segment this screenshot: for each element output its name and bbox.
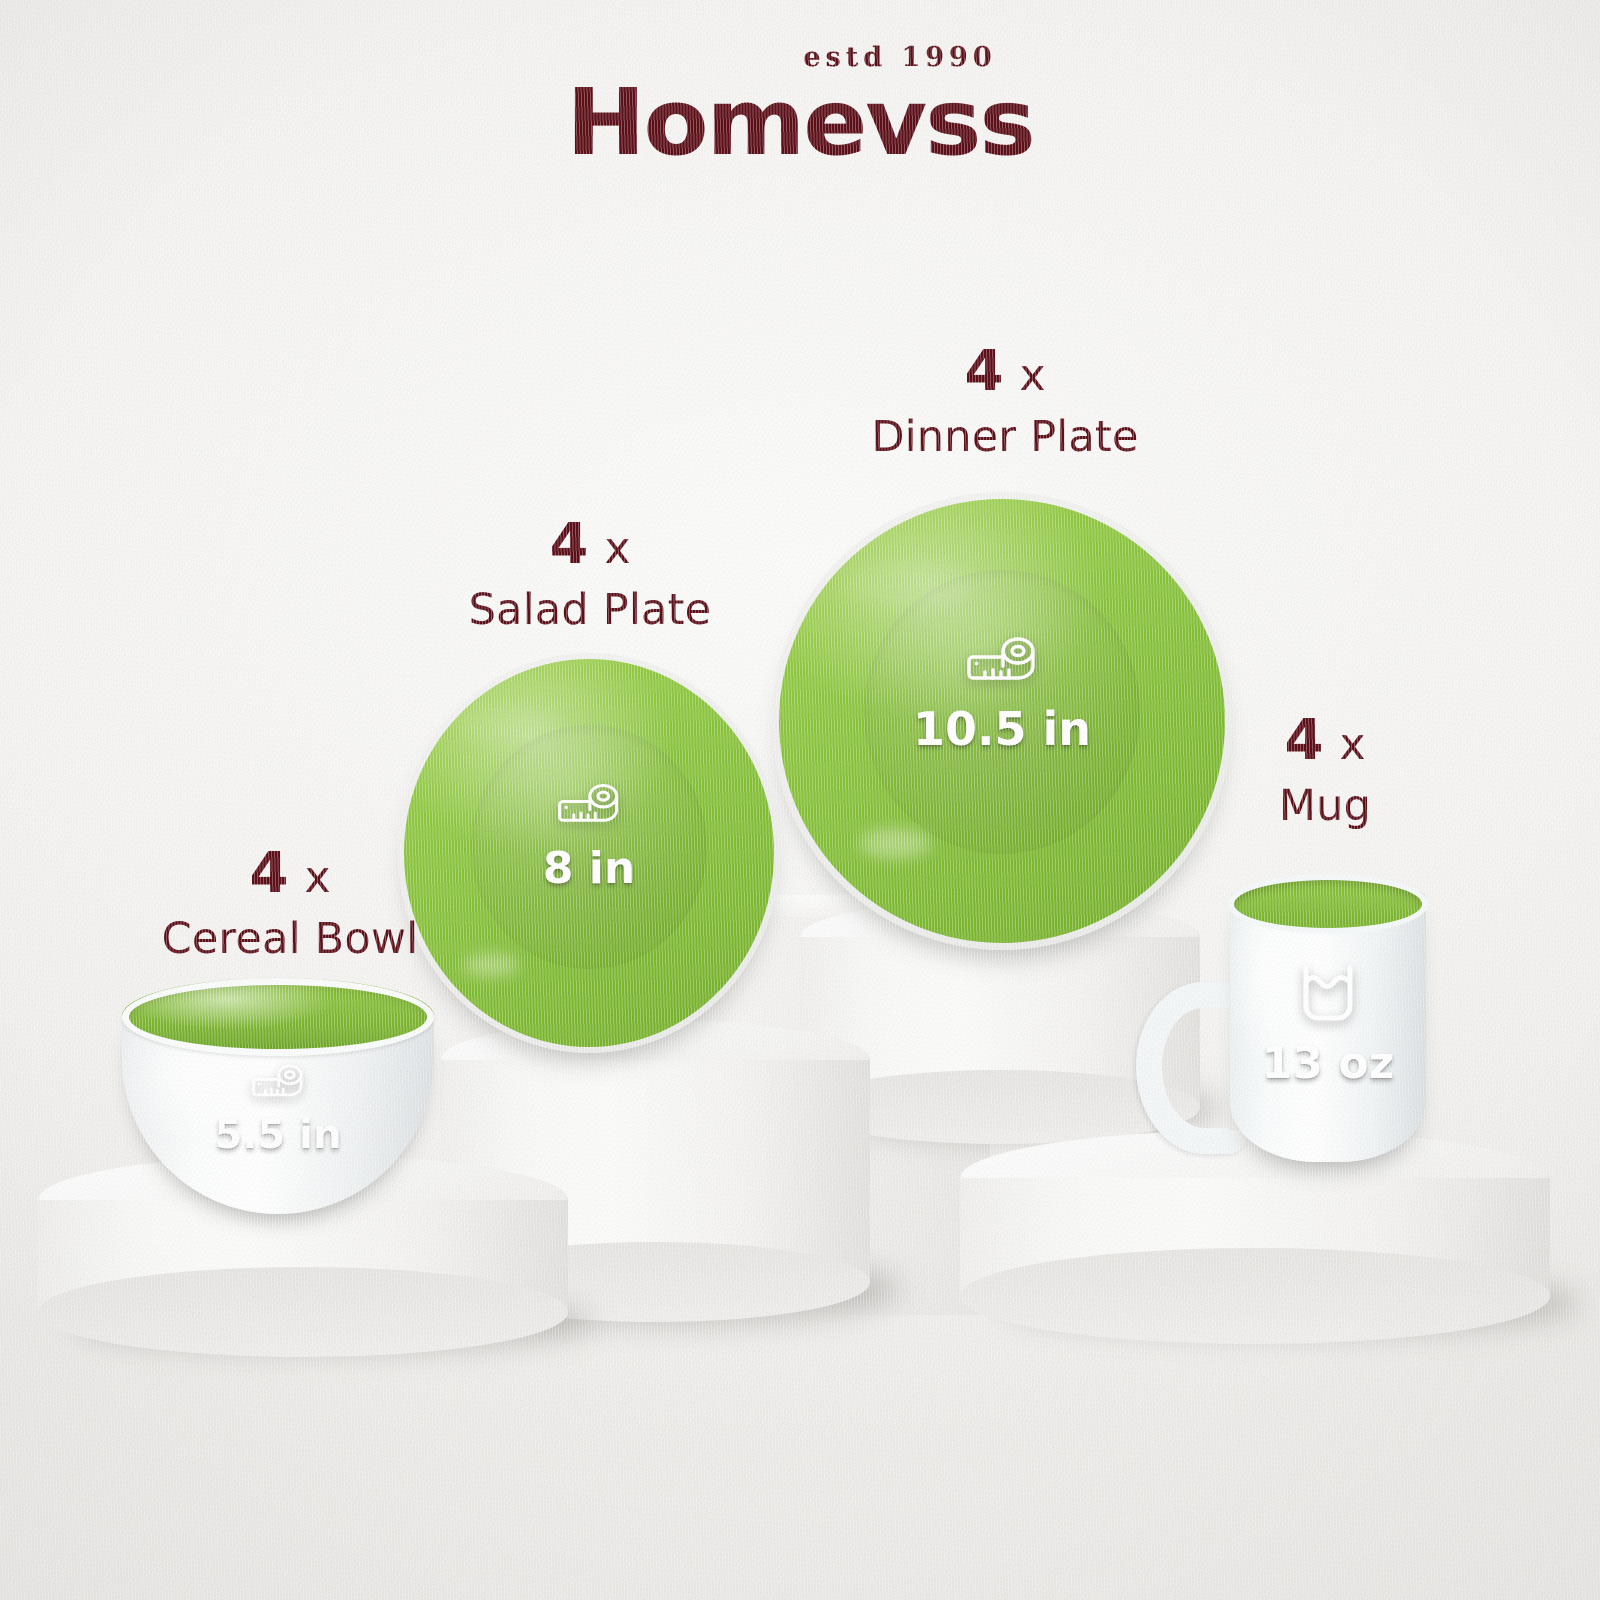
mug-qty: 4 bbox=[1284, 708, 1323, 773]
dinner-plate-qty-line: 4x bbox=[790, 343, 1220, 402]
salad-plate-label: Salad Plate bbox=[395, 585, 785, 637]
annotation-cereal-bowl: 4x Cereal Bowl bbox=[95, 845, 485, 965]
mug-rim bbox=[1228, 874, 1428, 934]
salad-plate-qty-line: 4x bbox=[395, 516, 785, 575]
brand-name: Homevss bbox=[0, 75, 1600, 172]
cereal-bowl-label: Cereal Bowl bbox=[95, 914, 485, 966]
pedestal-base bbox=[38, 1267, 568, 1357]
dinner-plate-well bbox=[864, 570, 1141, 854]
pedestal-base bbox=[960, 1248, 1550, 1344]
cereal-bowl-multiplier: x bbox=[304, 852, 330, 903]
product-infographic: 10.5 in 4x Dinner Plate bbox=[0, 0, 1600, 1600]
dinner-plate-qty: 4 bbox=[964, 339, 1003, 404]
salad-plate-highlight-2 bbox=[456, 706, 560, 745]
dinner-plate-label: Dinner Plate bbox=[790, 412, 1220, 464]
dinner-plate-highlight bbox=[859, 828, 930, 859]
cereal-bowl-qty-line: 4x bbox=[95, 845, 485, 904]
annotation-salad-plate: 4x Salad Plate bbox=[395, 516, 785, 636]
annotation-dinner-plate: 4x Dinner Plate bbox=[790, 343, 1220, 463]
salad-plate-multiplier: x bbox=[604, 523, 630, 574]
cereal-bowl[interactable]: 5.5 in bbox=[122, 978, 434, 1178]
annotation-mug: 4x Mug bbox=[1130, 712, 1520, 832]
salad-plate-qty: 4 bbox=[549, 512, 588, 577]
brand-logo: estd 1990 Homevss bbox=[0, 44, 1600, 172]
dinner-plate-multiplier: x bbox=[1019, 350, 1045, 401]
salad-plate-well bbox=[471, 725, 708, 969]
dinner-plate-highlight-2 bbox=[841, 561, 975, 610]
mug[interactable]: 13 oz bbox=[1140, 890, 1440, 1180]
mug-qty-line: 4x bbox=[1130, 712, 1520, 771]
cereal-bowl-rim bbox=[122, 978, 434, 1056]
brand-established: estd 1990 bbox=[200, 44, 1600, 71]
mug-label: Mug bbox=[1130, 781, 1520, 833]
mug-multiplier: x bbox=[1339, 719, 1365, 770]
cereal-bowl-qty: 4 bbox=[249, 841, 288, 906]
